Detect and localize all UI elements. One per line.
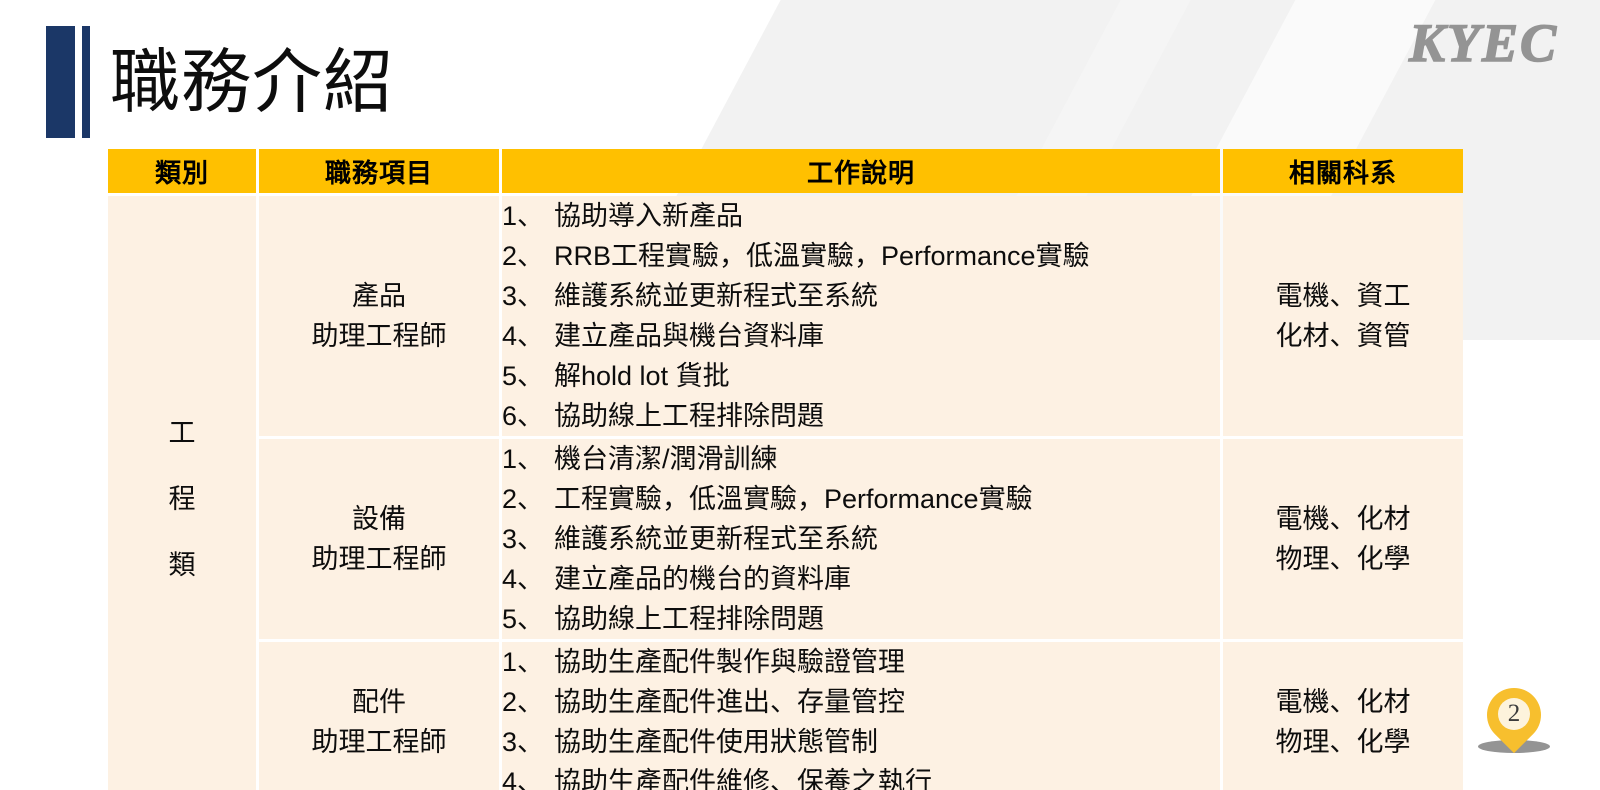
description-line: 2、協助生產配件進出、存量管控 [502, 682, 1220, 722]
category-label: 工 程 類 [169, 400, 196, 598]
description-text: 機台清潔/潤滑訓練 [554, 444, 778, 474]
description-number: 3、 [502, 276, 554, 316]
description-text: 工程實驗，低溫實驗，Performance實驗 [554, 484, 1033, 514]
description-number: 3、 [502, 519, 554, 559]
description-text: 協助生產配件維修、保養之執行 [554, 767, 932, 790]
cell-job-title: 產品 助理工程師 [259, 196, 499, 436]
description-number: 2、 [502, 682, 554, 722]
description-line: 1、協助生產配件製作與驗證管理 [502, 642, 1220, 682]
slide-canvas: 職務介紹 KYEC 類別 職務項目 工作說明 相關科系 工 程 類 產品 助理工… [0, 0, 1600, 790]
description-text: 協助線上工程排除問題 [554, 401, 824, 431]
description-text: RRB工程實驗，低溫實驗，Performance實驗 [554, 241, 1090, 271]
description-number: 5、 [502, 356, 554, 396]
table-row: 配件 助理工程師 1、協助生產配件製作與驗證管理 2、協助生產配件進出、存量管控… [108, 642, 1463, 790]
title-accent-bar-thin [82, 26, 90, 138]
cell-job-title: 配件 助理工程師 [259, 642, 499, 790]
cell-work-description: 1、協助生產配件製作與驗證管理 2、協助生產配件進出、存量管控 3、協助生產配件… [502, 642, 1220, 790]
table-header-row: 類別 職務項目 工作說明 相關科系 [108, 149, 1463, 193]
description-text: 協助線上工程排除問題 [554, 604, 824, 634]
description-line: 2、工程實驗，低溫實驗，Performance實驗 [502, 479, 1220, 519]
job-description-table: 類別 職務項目 工作說明 相關科系 工 程 類 產品 助理工程師 1、協助導入新… [105, 146, 1466, 790]
description-line: 2、RRB工程實驗，低溫實驗，Performance實驗 [502, 236, 1220, 276]
cell-related-majors: 電機、資工 化材、資管 [1223, 196, 1463, 436]
cell-work-description: 1、機台清潔/潤滑訓練 2、工程實驗，低溫實驗，Performance實驗 3、… [502, 439, 1220, 639]
kyec-logo: KYEC [1409, 16, 1558, 70]
description-text: 建立產品的機台的資料庫 [554, 564, 851, 594]
title-accent-bar-thick [46, 26, 75, 138]
description-line: 3、協助生產配件使用狀態管制 [502, 722, 1220, 762]
description-number: 4、 [502, 559, 554, 599]
cell-job-title: 設備 助理工程師 [259, 439, 499, 639]
description-text: 協助導入新產品 [554, 201, 743, 231]
column-header-related-majors: 相關科系 [1223, 149, 1463, 193]
cell-related-majors: 電機、化材 物理、化學 [1223, 439, 1463, 639]
description-number: 1、 [502, 196, 554, 236]
description-text: 維護系統並更新程式至系統 [554, 524, 878, 554]
description-line: 4、協助生產配件維修、保養之執行 [502, 762, 1220, 790]
description-line: 5、協助線上工程排除問題 [502, 599, 1220, 639]
description-number: 1、 [502, 642, 554, 682]
page-title: 職務介紹 [110, 34, 394, 130]
description-line: 3、維護系統並更新程式至系統 [502, 276, 1220, 316]
description-text: 維護系統並更新程式至系統 [554, 281, 878, 311]
description-text: 協助生產配件進出、存量管控 [554, 687, 905, 717]
column-header-category: 類別 [108, 149, 256, 193]
page-number-pin: 2 [1487, 688, 1541, 742]
description-number: 4、 [502, 762, 554, 790]
column-header-job-title: 職務項目 [259, 149, 499, 193]
description-text: 解hold lot 貨批 [554, 361, 730, 391]
description-line: 4、建立產品的機台的資料庫 [502, 559, 1220, 599]
description-number: 2、 [502, 479, 554, 519]
description-number: 4、 [502, 316, 554, 356]
description-line: 1、機台清潔/潤滑訓練 [502, 439, 1220, 479]
table-row: 工 程 類 產品 助理工程師 1、協助導入新產品 2、RRB工程實驗，低溫實驗，… [108, 196, 1463, 436]
description-number: 3、 [502, 722, 554, 762]
description-number: 2、 [502, 236, 554, 276]
description-number: 1、 [502, 439, 554, 479]
description-line: 4、建立產品與機台資料庫 [502, 316, 1220, 356]
cell-related-majors: 電機、化材 物理、化學 [1223, 642, 1463, 790]
table-row: 設備 助理工程師 1、機台清潔/潤滑訓練 2、工程實驗，低溫實驗，Perform… [108, 439, 1463, 639]
description-number: 6、 [502, 396, 554, 436]
description-line: 3、維護系統並更新程式至系統 [502, 519, 1220, 559]
column-header-work-description: 工作說明 [502, 149, 1220, 193]
description-line: 1、協助導入新產品 [502, 196, 1220, 236]
cell-work-description: 1、協助導入新產品 2、RRB工程實驗，低溫實驗，Performance實驗 3… [502, 196, 1220, 436]
description-text: 協助生產配件使用狀態管制 [554, 727, 878, 757]
description-text: 建立產品與機台資料庫 [554, 321, 824, 351]
page-number-label: 2 [1498, 698, 1530, 730]
description-text: 協助生產配件製作與驗證管理 [554, 647, 905, 677]
description-number: 5、 [502, 599, 554, 639]
description-line: 6、協助線上工程排除問題 [502, 396, 1220, 436]
cell-category-engineering: 工 程 類 [108, 196, 256, 790]
description-line: 5、解hold lot 貨批 [502, 356, 1220, 396]
